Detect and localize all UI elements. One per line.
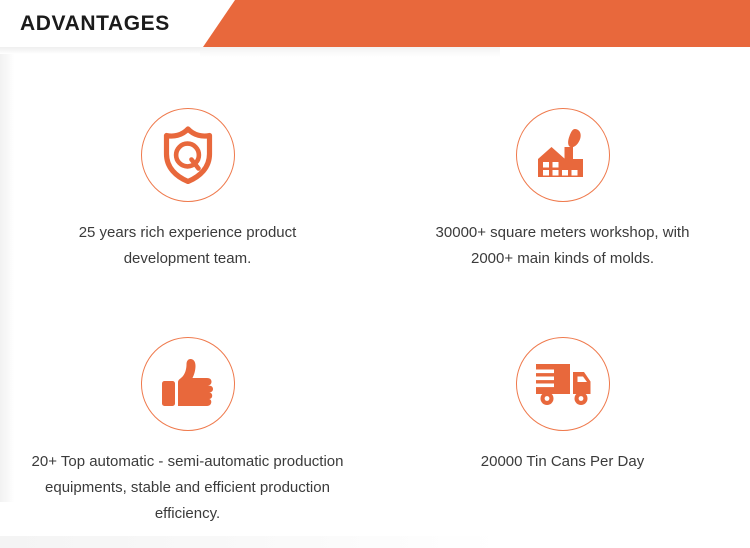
delivery-truck-icon [516,337,610,431]
advantage-text-1: 25 years rich experience product develop… [38,220,338,272]
advantage-text-4: 20000 Tin Cans Per Day [413,449,713,475]
advantage-text-3: 20+ Top automatic - semi-automatic produ… [28,449,348,527]
header-shadow-mid [200,47,500,57]
bottom-gutter-band [0,536,500,548]
thumbs-up-glyph [160,357,216,411]
thumbs-up-icon [141,337,235,431]
factory-icon [516,108,610,202]
factory-glyph [534,126,592,184]
page-title: ADVANTAGES [20,0,170,47]
advantage-item-3: 20+ Top automatic - semi-automatic produ… [0,295,375,530]
advantage-item-4: 20000 Tin Cans Per Day [375,295,750,530]
advantage-item-2: 30000+ square meters workshop, with 2000… [375,60,750,295]
advantage-item-1: 25 years rich experience product develop… [0,60,375,295]
section-header: ADVANTAGES [0,0,750,47]
shield-quality-icon [141,108,235,202]
advantages-slide: ADVANTAGES 25 years rich experience prod… [0,0,750,548]
advantage-text-2: 30000+ square meters workshop, with 2000… [413,220,713,272]
delivery-truck-glyph [532,360,594,408]
header-shadow-left [0,47,210,54]
shield-quality-glyph [160,126,216,184]
advantages-grid: 25 years rich experience product develop… [0,60,750,530]
